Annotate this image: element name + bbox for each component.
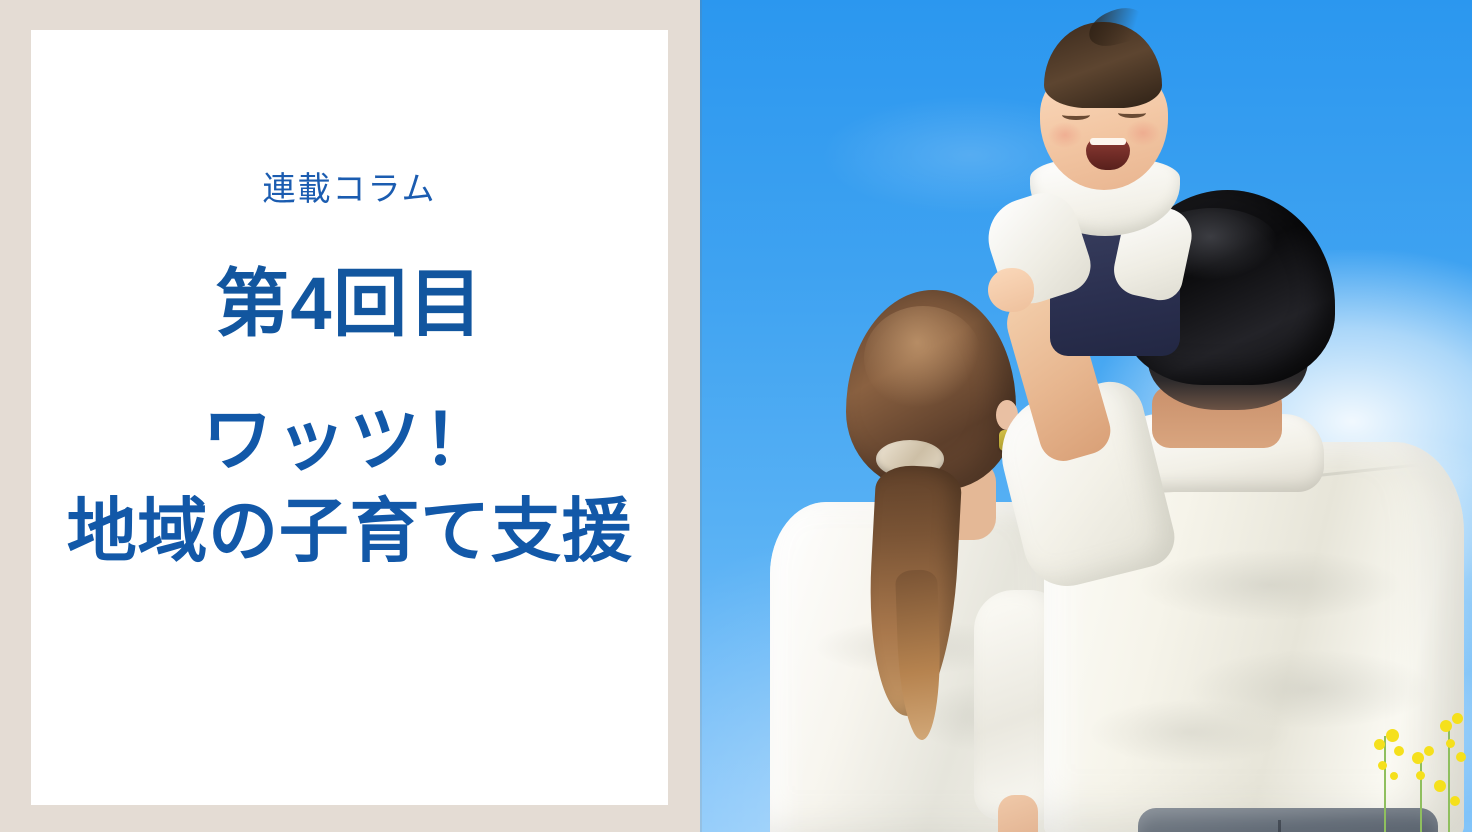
baby-cheek-left <box>1048 122 1082 148</box>
baby-eye-right <box>1118 108 1146 118</box>
family-photo <box>700 0 1472 832</box>
article-banner: 連載コラム 第4回目 ワッツ！ 地域の子育て支援 <box>0 0 1472 832</box>
baby-eye-left <box>1062 110 1090 120</box>
father-shirt-fold-1 <box>1140 550 1400 620</box>
father-shirt-fold-3 <box>1090 700 1290 764</box>
baby-figure <box>1000 10 1260 430</box>
rapeseed-flowers <box>1356 712 1466 832</box>
subtitle-line-2: 地域の子育て支援 <box>67 486 633 577</box>
subtitle-line-1: ワッツ！ <box>67 395 633 486</box>
column-kicker: 連載コラム <box>263 172 437 205</box>
mother-hair-highlight <box>864 306 982 410</box>
text-card: 連載コラム 第4回目 ワッツ！ 地域の子育て支援 <box>31 30 668 805</box>
photo-left-edge <box>700 0 702 832</box>
issue-number-heading: 第4回目 <box>215 267 484 341</box>
father-jeans-seam <box>1278 820 1281 832</box>
baby-hand <box>988 268 1034 312</box>
baby-cheek-right <box>1126 120 1160 146</box>
subtitle-block: ワッツ！ 地域の子育て支援 <box>67 395 633 577</box>
text-panel-frame: 連載コラム 第4回目 ワッツ！ 地域の子育て支援 <box>0 0 700 832</box>
baby-upper-gum <box>1090 138 1126 145</box>
